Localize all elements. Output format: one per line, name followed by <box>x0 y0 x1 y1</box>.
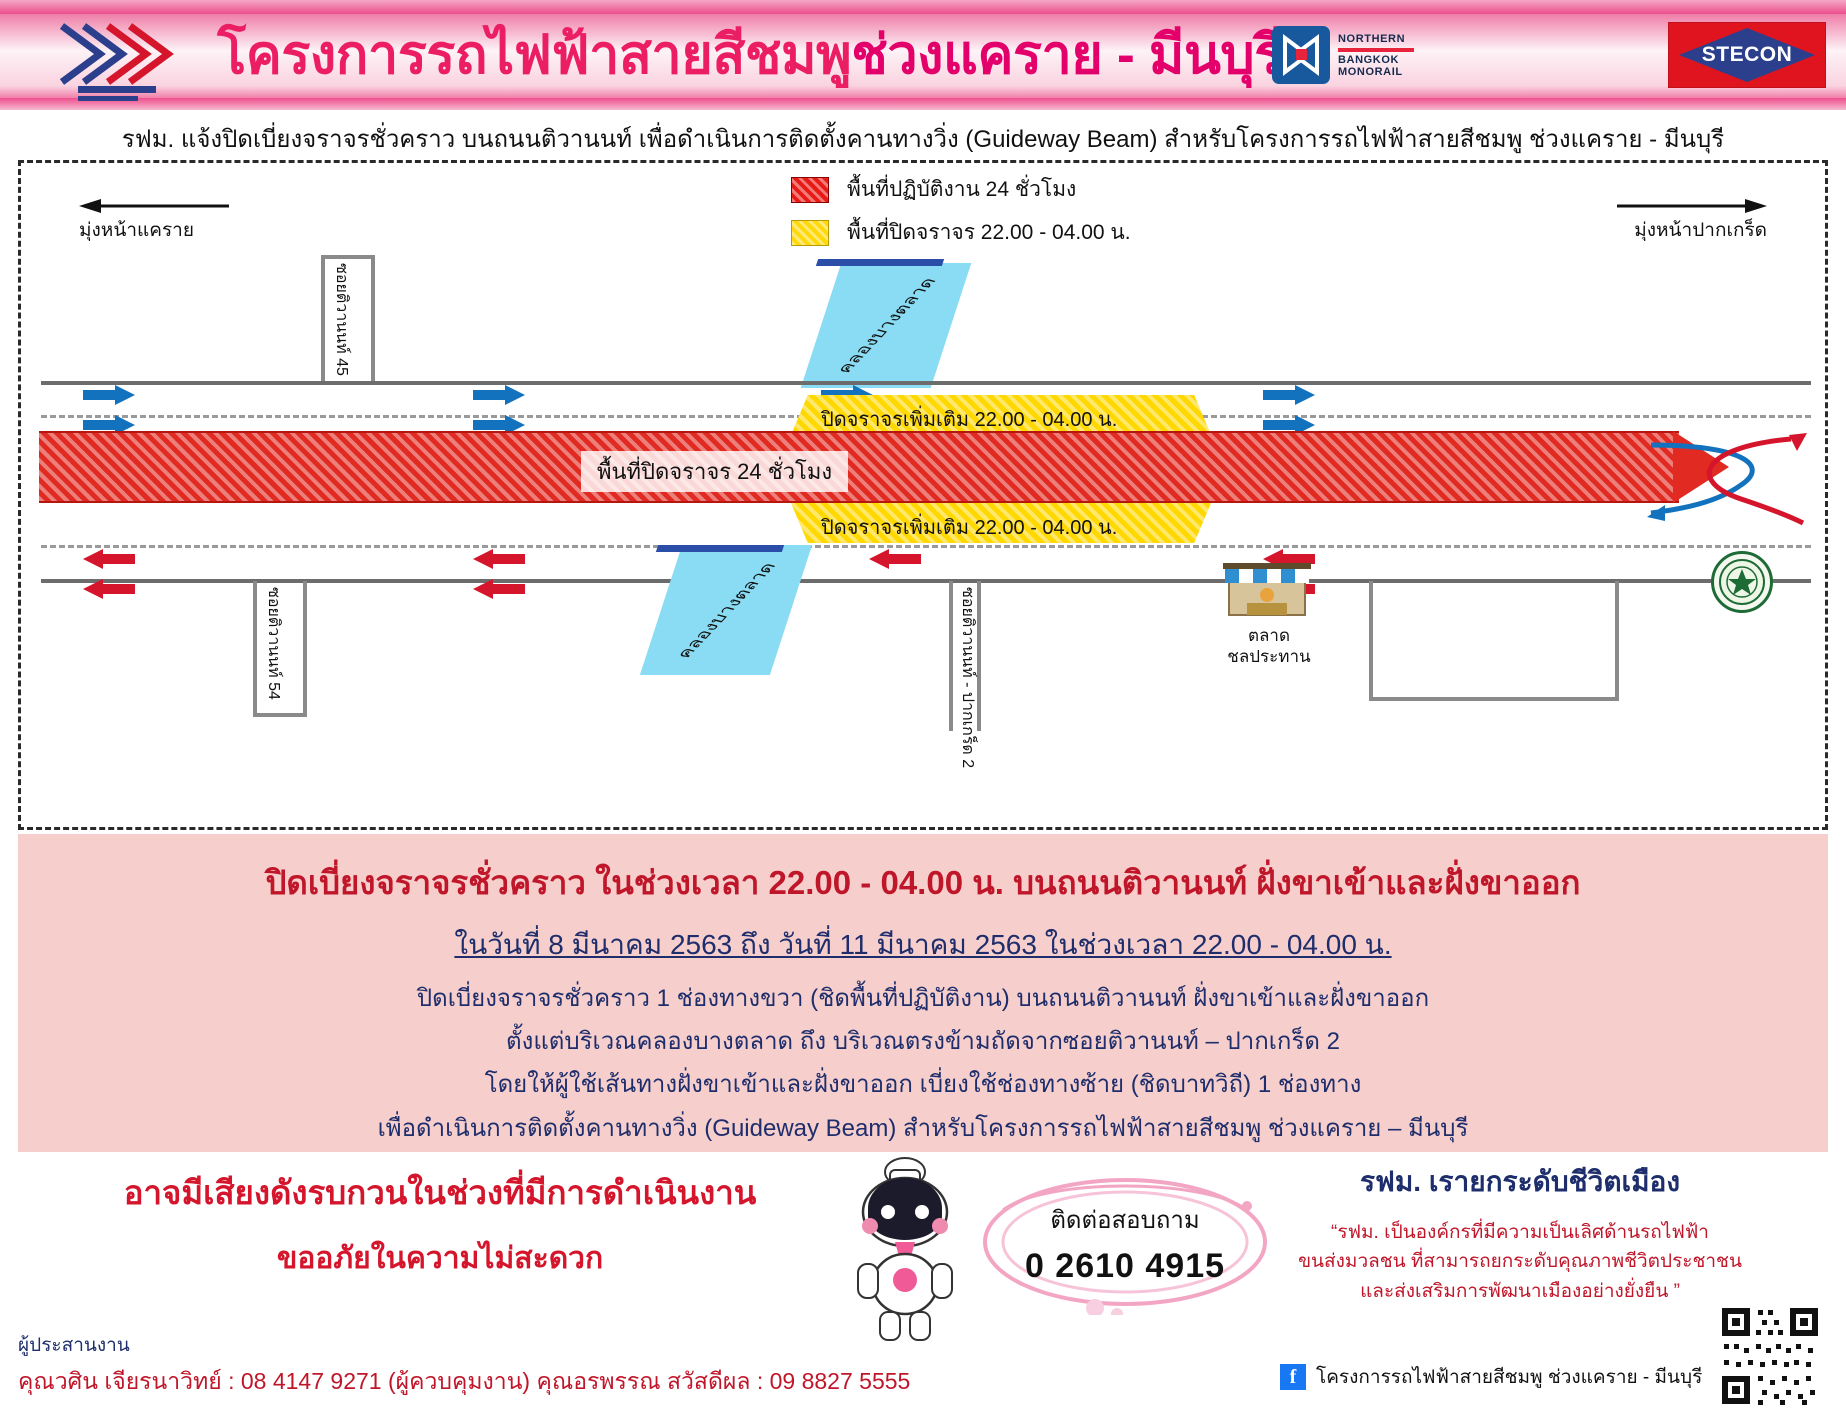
legend-item-work-area: พื้นที่ปฏิบัติงาน 24 ชั่วโมง <box>791 173 1211 206</box>
announcement-detail-2: ตั้งแต่บริเวณคลองบางตลาด ถึง บริเวณตรงข้… <box>18 1026 1828 1057</box>
full-closure-band <box>39 431 1679 503</box>
traffic-arrow-blue-1-icon <box>83 385 135 405</box>
stecon-label: STECON <box>1679 28 1815 82</box>
side-street-right-1 <box>1369 581 1373 701</box>
street-label-pakkret-2: ซอยติวานนท์ - ปากเกร็ด 2 <box>955 587 980 727</box>
notice-headline: รฟม. แจ้งปิดเบี่ยงจราจรชั่วคราว บนถนนติว… <box>0 118 1846 158</box>
legend-label-work-area: พื้นที่ปฏิบัติงาน 24 ชั่วโมง <box>847 173 1076 206</box>
side-street-soi-54-stem <box>253 581 257 717</box>
page-footer: อาจมีเสียงดังรบกวนในช่วงที่มีการดำเนินงา… <box>0 1152 1846 1415</box>
qr-code-icon[interactable] <box>1718 1304 1822 1408</box>
page-title-main: โครงการรถไฟฟ้าสายสีชมพู <box>217 11 851 97</box>
government-seal-icon <box>1711 551 1773 613</box>
page-title: โครงการรถไฟฟ้าสายสีชมพู ช่วงแคราย - มีนบ… <box>240 16 1260 92</box>
contact-info: ติดต่อสอบถาม 0 2610 4915 <box>1000 1200 1250 1286</box>
road-edge-north <box>41 381 1811 385</box>
page-header: โครงการรถไฟฟ้าสายสีชมพู ช่วงแคราย - มีนบ… <box>0 0 1846 110</box>
header-bottom-bar <box>0 98 1846 110</box>
direction-arrow-right-icon <box>1617 199 1767 213</box>
northern-bangkok-monorail-icon <box>1272 26 1330 84</box>
full-closure-label: พื้นที่ปิดจราจร 24 ชั่วโมง <box>581 451 848 492</box>
noise-warning: อาจมีเสียงดังรบกวนในช่วงที่มีการดำเนินงา… <box>70 1166 810 1282</box>
side-street-soi-54-cap <box>253 713 307 717</box>
nbm-line-1: NORTHERN <box>1338 33 1448 46</box>
canal-bridge-top <box>816 259 944 266</box>
side-street-right-connector <box>1369 697 1619 701</box>
announcement-detail-1: ปิดเบี่ยงจราจรชั่วคราว 1 ช่องทางขวา (ชิด… <box>18 983 1828 1014</box>
slogan-line-2: ขนส่งมวลชน ที่สามารถยกระดับคุณภาพชีวิตปร… <box>1290 1247 1750 1276</box>
market-label: ตลาด ชลประทาน <box>1201 625 1337 668</box>
night-closure-label-bottom: ปิดจราจรเพิ่มเติม 22.00 - 04.00 น. <box>821 511 1117 543</box>
page-title-sub: ช่วงแคราย - มีนบุรี <box>851 11 1283 97</box>
traffic-arrow-red-2-icon <box>83 579 135 599</box>
u-turn-indicator-icon <box>1621 425 1821 535</box>
nbm-divider <box>1338 48 1414 52</box>
announcement-headline: ปิดเบี่ยงจราจรชั่วคราว ในช่วงเวลา 22.00 … <box>18 856 1828 909</box>
legend-label-night-closure: พื้นที่ปิดจราจร 22.00 - 04.00 น. <box>847 216 1131 249</box>
slogan-line-1: “รฟม. เป็นองค์กรที่มีความเป็นเลิศด้านรถไ… <box>1290 1218 1750 1247</box>
market-label-line-1: ตลาด <box>1201 625 1337 646</box>
facebook-row[interactable]: f โครงการรถไฟฟ้าสายสีชมพู ช่วงแคราย - มี… <box>1280 1362 1702 1392</box>
traffic-arrow-red-5-icon <box>869 549 921 569</box>
nbm-line-3: MONORAIL <box>1338 66 1448 79</box>
slogan-block: รฟม. เรายกระดับชีวิตเมือง “รฟม. เป็นองค์… <box>1290 1160 1750 1306</box>
traffic-arrow-red-3-icon <box>473 549 525 569</box>
facebook-page-name: โครงการรถไฟฟ้าสายสีชมพู ช่วงแคราย - มีนบ… <box>1316 1362 1702 1392</box>
side-street-soi-45-stem-2 <box>371 255 375 385</box>
direction-arrow-left-icon <box>79 199 229 213</box>
market-label-line-2: ชลประทาน <box>1201 646 1337 667</box>
slogan-title: รฟม. เรายกระดับชีวิตเมือง <box>1290 1160 1750 1204</box>
direction-label-pak-kret: มุ่งหน้าปากเกร็ด <box>1634 215 1767 245</box>
coordinator-label: ผู้ประสานงาน <box>18 1330 130 1360</box>
side-street-soi-54-stem-2 <box>303 581 307 717</box>
traffic-arrow-blue-3-icon <box>473 385 525 405</box>
side-street-right-2 <box>1615 581 1619 701</box>
legend-swatch-red-icon <box>791 177 829 203</box>
side-street-pakkret-2-stem <box>949 581 953 731</box>
traffic-arrow-blue-6-icon <box>1263 385 1315 405</box>
market-icon <box>1221 555 1313 621</box>
street-label-soi-54: ซอยติวานนท์ 54 <box>261 587 286 707</box>
legend-item-night-closure: พื้นที่ปิดจราจร 22.00 - 04.00 น. <box>791 216 1211 249</box>
slogan-line-3: และส่งเสริมการพัฒนาเมืองอย่างยั่งยืน ” <box>1290 1277 1750 1306</box>
canal-bang-talat-top: คลองบางตลาด <box>801 263 972 388</box>
traffic-arrow-red-4-icon <box>473 579 525 599</box>
announcement-dates: ในวันที่ 8 มีนาคม 2563 ถึง วันที่ 11 มีน… <box>18 923 1828 967</box>
traffic-arrow-red-1-icon <box>83 549 135 569</box>
side-street-soi-45-cap <box>321 255 375 259</box>
traffic-map-panel: มุ่งหน้าแคราย มุ่งหน้าปากเกร็ด พื้นที่ปฏ… <box>18 160 1828 830</box>
facebook-icon[interactable]: f <box>1280 1364 1306 1390</box>
northern-bangkok-monorail-label: NORTHERN BANGKOK MONORAIL <box>1338 32 1448 80</box>
noise-warning-line-1: อาจมีเสียงดังรบกวนในช่วงที่มีการดำเนินงา… <box>70 1166 810 1219</box>
canal-bang-talat-bottom: คลองบางตลาด <box>640 545 812 675</box>
announcement-detail-3: โดยให้ผู้ใช้เส้นทางฝั่งขาเข้าและฝั่งขาออ… <box>18 1069 1828 1100</box>
street-label-soi-45: ซอยติวานนท์ 45 <box>329 263 354 383</box>
announcement-block: ปิดเบี่ยงจราจรชั่วคราว ในช่วงเวลา 22.00 … <box>18 834 1828 1152</box>
side-street-soi-45-stem <box>321 255 325 385</box>
mascot-icon <box>840 1156 970 1346</box>
coordinator-contacts: คุณวศิน เจียรนาวิทย์ : 08 4147 9271 (ผู้… <box>18 1364 910 1400</box>
noise-warning-line-2: ขออภัยในความไม่สะดวก <box>70 1235 810 1282</box>
canal-label-bottom: คลองบางตลาด <box>669 560 784 661</box>
stecon-logo: STECON <box>1668 22 1826 88</box>
road-lane-divider-south <box>41 545 1811 548</box>
canal-label-top: คลองบางตลาด <box>829 275 944 376</box>
canal-bridge-bottom <box>656 545 784 552</box>
legend-swatch-yellow-icon <box>791 220 829 246</box>
direction-label-khae-rai: มุ่งหน้าแคราย <box>79 215 194 245</box>
map-legend: พื้นที่ปฏิบัติงาน 24 ชั่วโมง พื้นที่ปิดจ… <box>791 173 1211 259</box>
announcement-poster: โครงการรถไฟฟ้าสายสีชมพู ช่วงแคราย - มีนบ… <box>0 0 1846 1415</box>
contact-phone-number[interactable]: 0 2610 4915 <box>1000 1247 1250 1286</box>
contact-label: ติดต่อสอบถาม <box>1000 1200 1250 1239</box>
mrta-logo <box>42 14 192 102</box>
nbm-line-2: BANGKOK <box>1338 54 1448 67</box>
announcement-detail-4: เพื่อดำเนินการติดตั้งคานทางวิ่ง (Guidewa… <box>18 1113 1828 1144</box>
